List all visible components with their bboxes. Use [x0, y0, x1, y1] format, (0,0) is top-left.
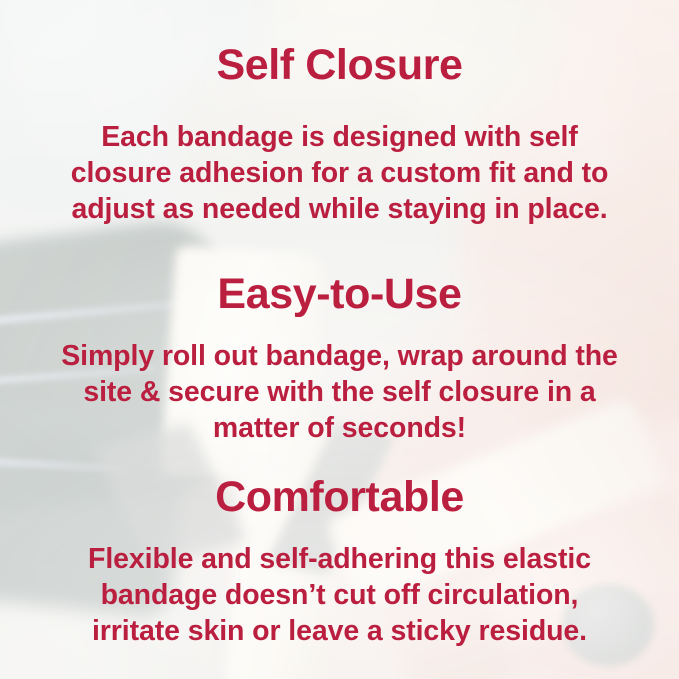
feature-body-easy-to-use: Simply roll out bandage, wrap around the… [0, 338, 679, 446]
feature-body-line: Simply roll out bandage, wrap around the [61, 340, 618, 372]
feature-body-line: Each bandage is designed with self [101, 121, 577, 153]
feature-body-line: irritate skin or leave a sticky residue. [92, 615, 587, 647]
feature-body-line: bandage doesn’t cut off circulation, [101, 579, 579, 611]
feature-body-line: matter of seconds! [213, 412, 466, 444]
feature-heading-self-closure: Self Closure [0, 44, 679, 87]
feature-heading-comfortable: Comfortable [0, 476, 679, 519]
feature-heading-easy-to-use: Easy-to-Use [0, 273, 679, 316]
infographic-card: Self Closure Each bandage is designed wi… [0, 0, 679, 679]
feature-body-self-closure: Each bandage is designed with self closu… [0, 119, 679, 227]
feature-list: Self Closure Each bandage is designed wi… [0, 0, 679, 679]
feature-section-easy-to-use: Easy-to-Use Simply roll out bandage, wra… [0, 273, 679, 446]
feature-body-line: closure adhesion for a custom fit and to [71, 157, 609, 189]
feature-body-comfortable: Flexible and self-adhering this elastic … [0, 541, 679, 649]
feature-body-line: adjust as needed while staying in place. [71, 193, 607, 225]
feature-section-self-closure: Self Closure Each bandage is designed wi… [0, 44, 679, 227]
feature-body-line: site & secure with the self closure in a [83, 376, 595, 408]
feature-section-comfortable: Comfortable Flexible and self-adhering t… [0, 476, 679, 649]
feature-body-line: Flexible and self-adhering this elastic [88, 543, 591, 575]
